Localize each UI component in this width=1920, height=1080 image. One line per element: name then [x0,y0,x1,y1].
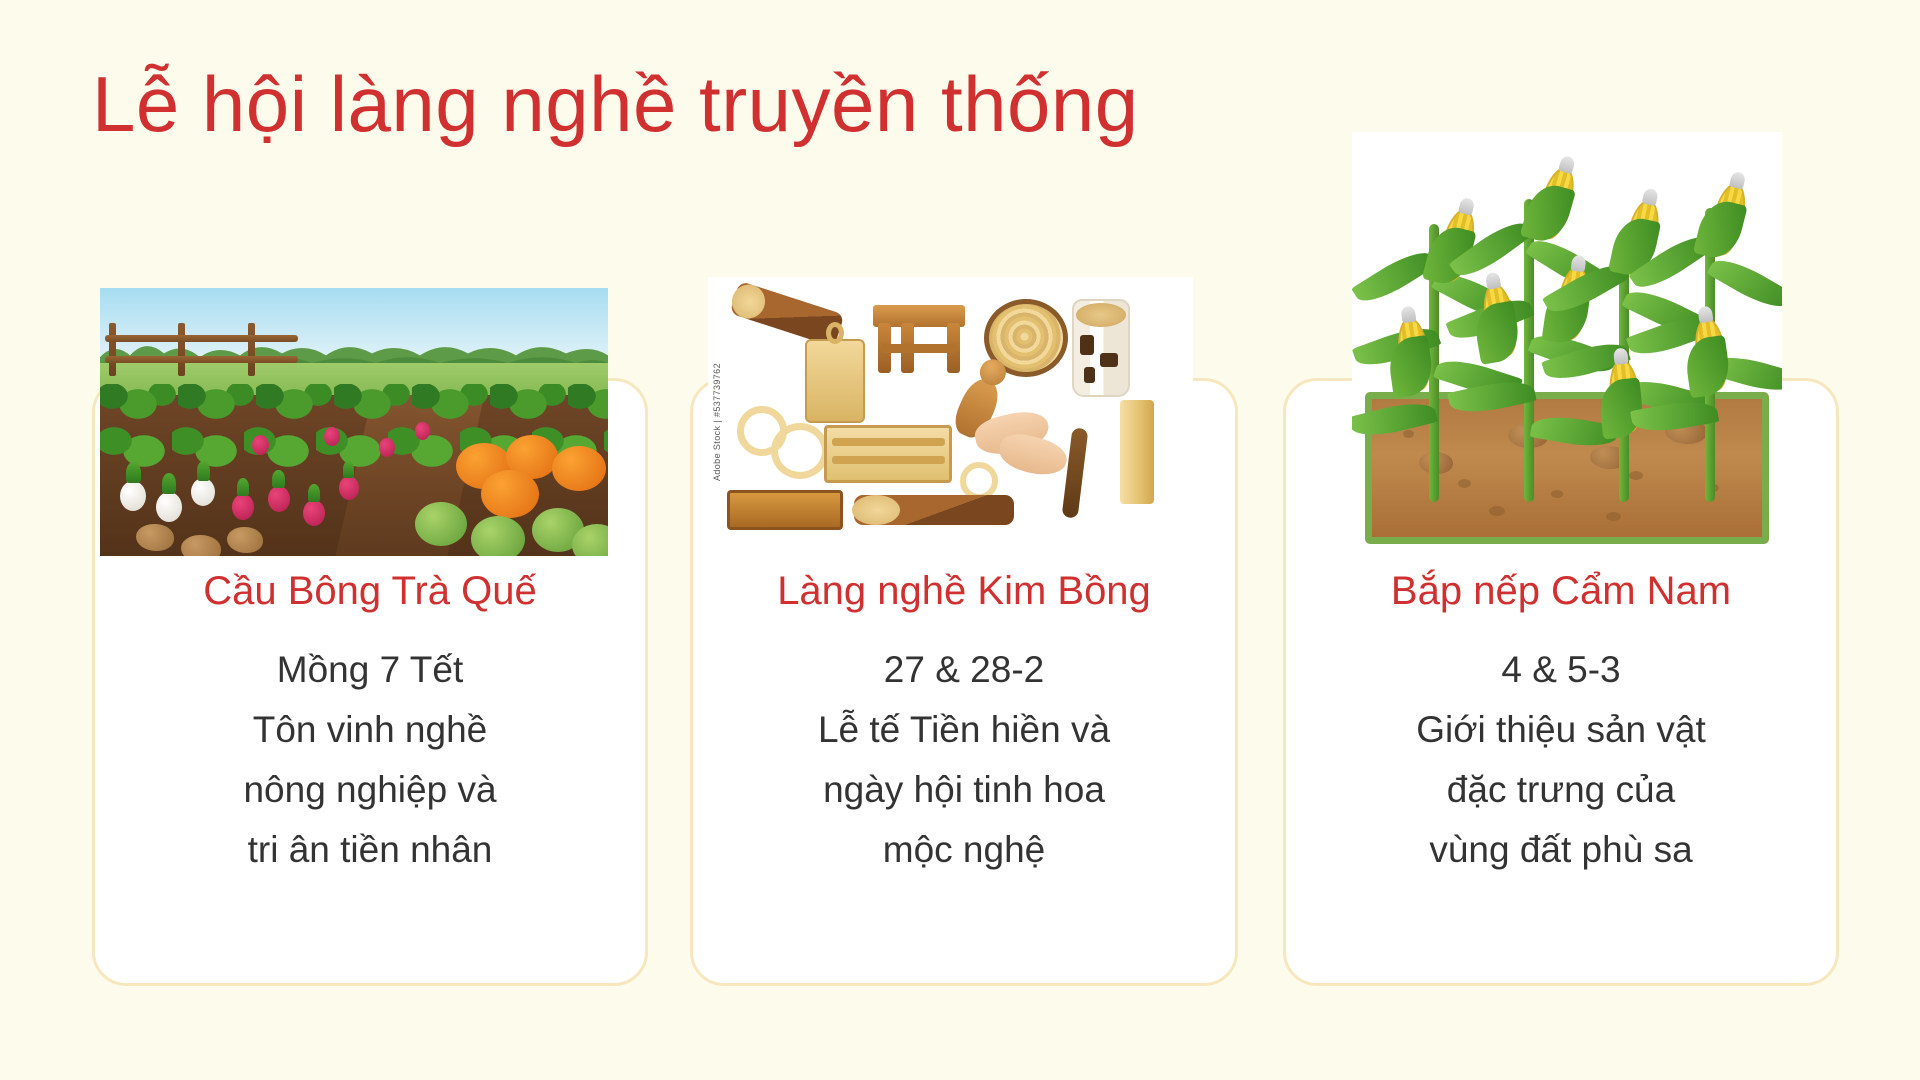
cabbage [471,516,525,556]
carving-hand-lower [996,429,1071,480]
wooden-plank [1120,400,1154,504]
cutting-board [805,339,865,423]
wood-shaving-curl [771,423,829,479]
wooden-stool [873,305,965,327]
card-title-cau-bong-tra-que: Cầu Bông Trà Quế [92,568,648,614]
card-description-line: ngày hội tinh hoa [698,760,1230,820]
card-date: 4 & 5-3 [1291,640,1831,700]
card-body-cau-bong-tra-que: Mồng 7 Tết Tôn vinh nghề nông nghiệp và … [100,640,640,880]
wooden-crate [824,425,952,483]
radish [324,427,340,446]
log-horizontal [854,495,1014,525]
vegetable-garden-illustration [100,288,608,556]
birch-log [1072,299,1130,397]
card-title-bap-nep-cam-nam: Bắp nếp Cẩm Nam [1283,568,1839,614]
card-description-line: nông nghiệp và [100,760,640,820]
corn-field-illustration [1352,132,1782,552]
adobe-stock-watermark: Adobe Stock | #537739762 [712,363,722,481]
corn-cob [1532,163,1581,242]
card-description-line: tri ân tiền nhân [100,820,640,880]
card-description-line: Giới thiệu sản vật [1291,700,1831,760]
wooden-tray [727,490,843,530]
card-description-line: đặc trưng của [1291,760,1831,820]
woodcraft-objects-illustration: Adobe Stock | #537739762 [708,277,1193,557]
potato [227,527,263,553]
corn-cob [1691,315,1731,392]
card-date: Mồng 7 Tết [100,640,640,700]
card-description-line: Lễ tế Tiền hiền và [698,700,1230,760]
radish [268,486,290,512]
corn-cob [1479,281,1521,359]
card-description-line: Tôn vinh nghề [100,700,640,760]
radish [415,422,430,440]
card-body-lang-nghe-kim-bong: 27 & 28-2 Lễ tế Tiền hiền và ngày hội ti… [698,640,1230,880]
pumpkin [552,446,606,491]
card-description-line: mộc nghệ [698,820,1230,880]
radish [339,476,359,500]
corn-stalk [1524,199,1534,501]
wood-shaving-curl [960,462,998,500]
card-date: 27 & 28-2 [698,640,1230,700]
card-title-lang-nghe-kim-bong: Làng nghề Kim Bồng [690,568,1238,614]
radish [303,500,325,526]
card-description-line: vùng đất phù sa [1291,820,1831,880]
card-body-bap-nep-cam-nam: 4 & 5-3 Giới thiệu sản vật đặc trưng của… [1291,640,1831,880]
potato [136,524,174,551]
corn-cob [1394,315,1434,392]
wooden-fence [105,323,298,377]
wooden-branch [1061,428,1088,519]
turnip [156,492,182,522]
corn-cob [1705,180,1752,259]
festival-card-list: Cầu Bông Trà Quế Mồng 7 Tết Tôn vinh ngh… [0,0,1920,1080]
pumpkin [481,470,539,518]
